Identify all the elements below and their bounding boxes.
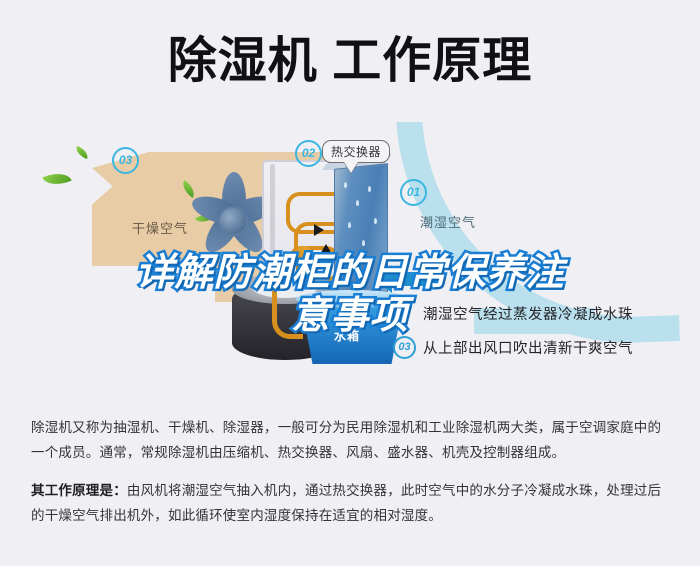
header: 除湿机 工作原理 xyxy=(0,28,700,98)
heat-exchanger-callout-tip xyxy=(344,162,358,173)
step-badge-03: 03 xyxy=(112,147,139,174)
step-captions: 潮湿空气经过蒸发器冷凝成水珠 03 从上部出风口吹出清新干爽空气 xyxy=(393,296,693,364)
leaf-icon xyxy=(74,146,90,159)
leaf-icon xyxy=(42,168,71,191)
caption-badge: 03 xyxy=(393,336,416,359)
water-tank-label: 水箱 xyxy=(334,327,360,344)
air-inlet-arrowhead xyxy=(374,265,392,293)
paragraph-2: 其工作原理是：由风机将潮湿空气抽入机内，通过热交换器，此时空气中的水分子冷凝成水… xyxy=(31,478,671,528)
drain-pipe xyxy=(272,278,303,339)
dry-air-label: 干燥空气 xyxy=(132,218,188,237)
paragraph-1: 除湿机又称为抽湿机、干燥机、除湿器，一般可分为民用除湿机和工业除湿机两大类，属于… xyxy=(31,415,671,465)
step-badge-02: 02 xyxy=(295,140,322,167)
air-inlet-arrow xyxy=(390,272,444,286)
caption-text: 从上部出风口吹出清新干爽空气 xyxy=(423,337,633,358)
caption-row: 潮湿空气经过蒸发器冷凝成水珠 xyxy=(393,296,693,330)
humid-air-label: 潮湿空气 xyxy=(420,212,476,231)
caption-text: 潮湿空气经过蒸发器冷凝成水珠 xyxy=(423,303,633,324)
caption-row: 03 从上部出风口吹出清新干爽空气 xyxy=(393,330,693,364)
water-tank-lip xyxy=(296,290,408,308)
paragraph-2-lead: 其工作原理是： xyxy=(31,483,127,498)
page-root: 除湿机 工作原理 xyxy=(0,0,700,566)
page-title: 除湿机 工作原理 xyxy=(168,28,533,94)
body-copy: 除湿机又称为抽湿机、干燥机、除湿器，一般可分为民用除湿机和工业除湿机两大类，属于… xyxy=(31,415,671,541)
heat-exchanger-callout: 热交换器 xyxy=(322,140,390,163)
step-badge-01: 01 xyxy=(400,179,427,206)
